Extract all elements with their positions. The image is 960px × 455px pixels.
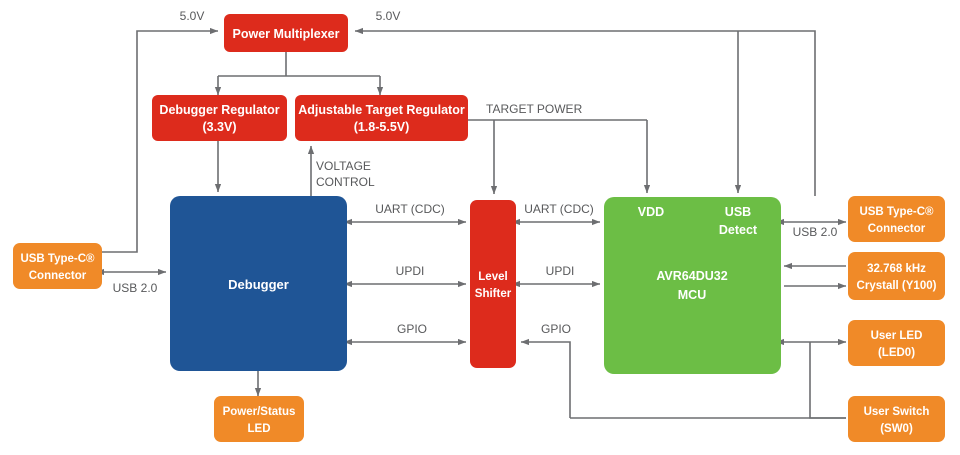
label-5v-left: 5.0V: [180, 9, 205, 23]
level-shifter-label-2: Shifter: [475, 288, 512, 300]
block-mcu[interactable]: VDD USB Detect AVR64DU32 MCU: [604, 197, 781, 374]
debugger-regulator-label-1: Debugger Regulator: [159, 103, 279, 117]
block-user-switch[interactable]: User Switch (SW0): [848, 396, 945, 442]
power-status-led-label-2: LED: [248, 423, 271, 435]
block-debugger[interactable]: Debugger: [170, 196, 347, 371]
block-crystal[interactable]: 32.768 kHz Crystall (Y100): [848, 252, 945, 300]
crystal-label-1: 32.768 kHz: [867, 263, 926, 275]
block-user-led[interactable]: User LED (LED0): [848, 320, 945, 366]
debugger-regulator-label-2: (3.3V): [202, 120, 236, 134]
block-diagram: Power Multiplexer Debugger Regulator (3.…: [0, 0, 960, 455]
user-switch-label-1: User Switch: [864, 406, 930, 418]
mcu-usb-detect-label-1: USB: [725, 205, 751, 219]
usb-connector-left-label-1: USB Type-C®: [20, 253, 95, 265]
label-usb20-right: USB 2.0: [793, 225, 838, 239]
crystal-label-2: Crystall (Y100): [857, 280, 937, 292]
label-usb20-left: USB 2.0: [113, 281, 158, 295]
label-updi-right: UPDI: [546, 264, 575, 278]
label-uart-cdc-right: UART (CDC): [524, 202, 594, 216]
mcu-usb-detect-label-2: Detect: [719, 223, 758, 237]
mcu-label-1: AVR64DU32: [656, 269, 727, 283]
power-status-led-label-1: Power/Status: [223, 406, 296, 418]
usb-connector-right-label-1: USB Type-C®: [859, 206, 934, 218]
wire-gpio-switch-to-levelshifter: [521, 342, 570, 418]
block-usb-connector-right[interactable]: USB Type-C® Connector: [848, 196, 945, 242]
adjustable-target-regulator-label-1: Adjustable Target Regulator: [298, 103, 465, 117]
label-gpio-left: GPIO: [397, 322, 427, 336]
block-power-status-led[interactable]: Power/Status LED: [214, 396, 304, 442]
label-updi-left: UPDI: [396, 264, 425, 278]
usb-connector-right-label-2: Connector: [868, 223, 926, 235]
adjustable-target-regulator-label-2: (1.8-5.5V): [354, 120, 410, 134]
power-multiplexer-label: Power Multiplexer: [233, 27, 340, 41]
label-gpio-right: GPIO: [541, 322, 571, 336]
block-adjustable-target-regulator[interactable]: Adjustable Target Regulator (1.8-5.5V): [295, 95, 468, 141]
block-power-multiplexer[interactable]: Power Multiplexer: [224, 14, 348, 52]
debugger-label: Debugger: [228, 277, 289, 292]
label-uart-cdc-left: UART (CDC): [375, 202, 445, 216]
label-5v-right: 5.0V: [376, 9, 401, 23]
user-led-label-2: (LED0): [878, 347, 915, 359]
user-switch-label-2: (SW0): [880, 423, 913, 435]
usb-connector-left-label-2: Connector: [29, 270, 87, 282]
block-debugger-regulator[interactable]: Debugger Regulator (3.3V): [152, 95, 287, 141]
block-level-shifter[interactable]: Level Shifter: [470, 200, 516, 368]
label-voltage-control-2: CONTROL: [316, 175, 375, 189]
user-led-label-1: User LED: [871, 330, 923, 342]
block-usb-connector-left[interactable]: USB Type-C® Connector: [13, 243, 102, 289]
mcu-label-2: MCU: [678, 288, 706, 302]
label-target-power: TARGET POWER: [486, 102, 583, 116]
wire-switch-bus: [810, 342, 846, 418]
label-voltage-control-1: VOLTAGE: [316, 159, 371, 173]
mcu-vdd-label: VDD: [638, 205, 664, 219]
level-shifter-label-1: Level: [478, 271, 507, 283]
